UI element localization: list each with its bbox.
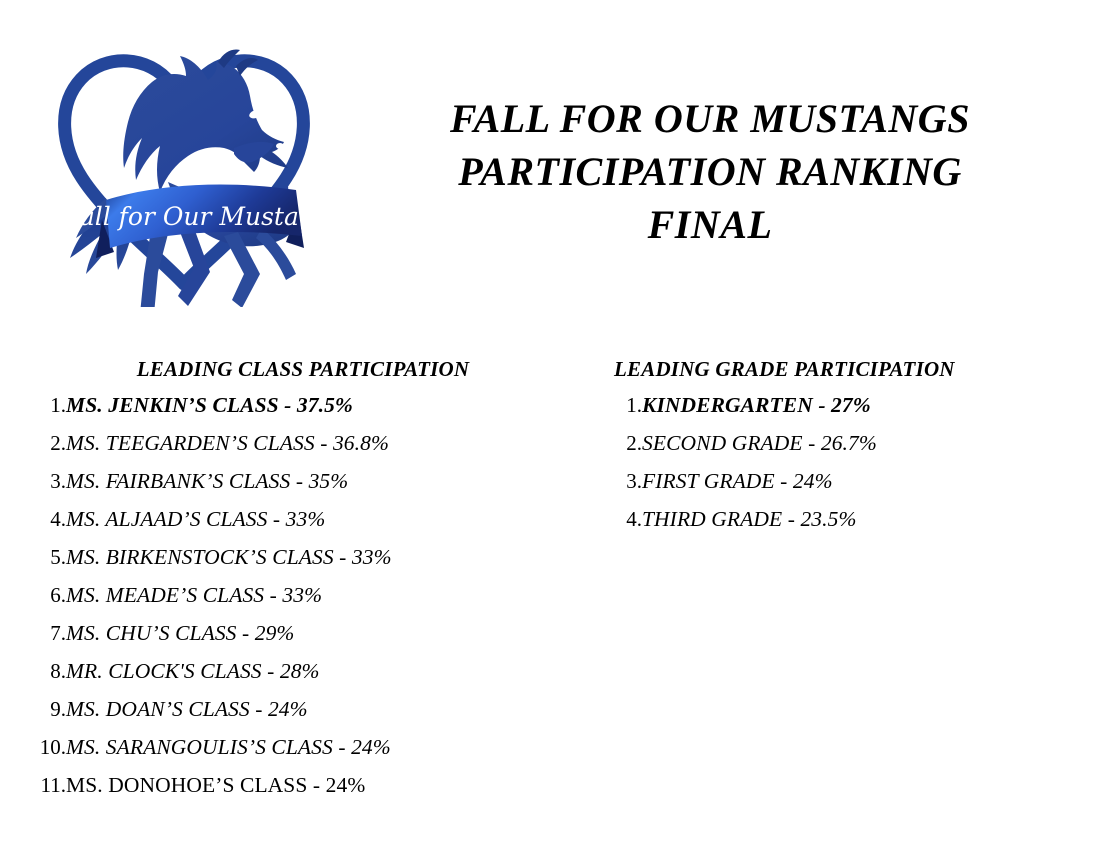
class-item-rank-number: 10. [18, 728, 66, 766]
grade-ranking-list: 1.KINDERGARTEN - 27%2.SECOND GRADE - 26.… [600, 386, 1100, 538]
class-item-rank-number: 1. [18, 386, 66, 424]
mustang-heart-logo-icon: Fall for Our Mustangs [48, 22, 320, 307]
title-line-2: PARTICIPATION RANKING [360, 145, 1060, 198]
grade-item-rank-number: 2. [600, 424, 642, 462]
grade-item-rank-number: 4. [600, 500, 642, 538]
grade-item-row: 1.KINDERGARTEN - 27% [600, 386, 1100, 424]
ribbon-banner-text: Fall for Our Mustangs [63, 202, 320, 231]
leading-grade-participation-column: LEADING GRADE PARTICIPATION 1.KINDERGART… [600, 352, 1100, 538]
class-item-row: 5.MS. BIRKENSTOCK’S CLASS - 33% [18, 538, 588, 576]
title-line-3: FINAL [360, 198, 1060, 251]
class-item-rank-number: 11. [18, 766, 66, 804]
class-item-row: 3.MS. FAIRBANK’S CLASS - 35% [18, 462, 588, 500]
class-item-label: MS. MEADE’S CLASS - 33% [66, 576, 322, 614]
grade-item-row: 3.FIRST GRADE - 24% [600, 462, 1100, 500]
class-item-rank-number: 6. [18, 576, 66, 614]
grade-item-rank-number: 1. [600, 386, 642, 424]
class-item-row: 2.MS. TEEGARDEN’S CLASS - 36.8% [18, 424, 588, 462]
class-item-row: 8.MR. CLOCK'S CLASS - 28% [18, 652, 588, 690]
title-line-1: FALL FOR OUR MUSTANGS [360, 92, 1060, 145]
class-item-row: 7.MS. CHU’S CLASS - 29% [18, 614, 588, 652]
class-item-label: MS. DONOHOE’S CLASS - 24% [66, 766, 365, 804]
class-item-label: MS. DOAN’S CLASS - 24% [66, 690, 308, 728]
class-item-rank-number: 3. [18, 462, 66, 500]
class-item-rank-number: 2. [18, 424, 66, 462]
class-item-row: 1.MS. JENKIN’S CLASS - 37.5% [18, 386, 588, 424]
class-column-header: LEADING CLASS PARTICIPATION [18, 352, 588, 386]
class-item-row: 10.MS. SARANGOULIS’S CLASS - 24% [18, 728, 588, 766]
class-item-rank-number: 8. [18, 652, 66, 690]
class-item-rank-number: 9. [18, 690, 66, 728]
grade-item-row: 4.THIRD GRADE - 23.5% [600, 500, 1100, 538]
grade-item-label: FIRST GRADE - 24% [642, 462, 833, 500]
class-item-row: 6.MS. MEADE’S CLASS - 33% [18, 576, 588, 614]
class-item-label: MS. ALJAAD’S CLASS - 33% [66, 500, 325, 538]
class-item-label: MS. BIRKENSTOCK’S CLASS - 33% [66, 538, 392, 576]
horse-silhouette-icon [123, 50, 296, 308]
school-logo: Fall for Our Mustangs [48, 22, 320, 307]
grade-item-label: SECOND GRADE - 26.7% [642, 424, 877, 462]
class-item-label: MS. SARANGOULIS’S CLASS - 24% [66, 728, 391, 766]
class-item-row: 11.MS. DONOHOE’S CLASS - 24% [18, 766, 588, 804]
leading-class-participation-column: LEADING CLASS PARTICIPATION 1.MS. JENKIN… [18, 352, 588, 804]
grade-item-row: 2.SECOND GRADE - 26.7% [600, 424, 1100, 462]
class-item-label: MS. JENKIN’S CLASS - 37.5% [66, 386, 353, 424]
class-item-row: 4.MS. ALJAAD’S CLASS - 33% [18, 500, 588, 538]
grade-item-label: THIRD GRADE - 23.5% [642, 500, 856, 538]
class-item-label: MS. FAIRBANK’S CLASS - 35% [66, 462, 348, 500]
class-item-rank-number: 4. [18, 500, 66, 538]
class-item-label: MS. TEEGARDEN’S CLASS - 36.8% [66, 424, 389, 462]
class-item-row: 9.MS. DOAN’S CLASS - 24% [18, 690, 588, 728]
class-ranking-list: 1.MS. JENKIN’S CLASS - 37.5%2.MS. TEEGAR… [18, 386, 588, 804]
class-item-label: MR. CLOCK'S CLASS - 28% [66, 652, 320, 690]
grade-column-header: LEADING GRADE PARTICIPATION [600, 352, 1100, 386]
ranking-columns: LEADING CLASS PARTICIPATION 1.MS. JENKIN… [0, 352, 1108, 822]
class-item-label: MS. CHU’S CLASS - 29% [66, 614, 294, 652]
class-item-rank-number: 7. [18, 614, 66, 652]
grade-item-rank-number: 3. [600, 462, 642, 500]
grade-item-label: KINDERGARTEN - 27% [642, 386, 871, 424]
class-item-rank-number: 5. [18, 538, 66, 576]
page-title: FALL FOR OUR MUSTANGS PARTICIPATION RANK… [360, 92, 1060, 251]
